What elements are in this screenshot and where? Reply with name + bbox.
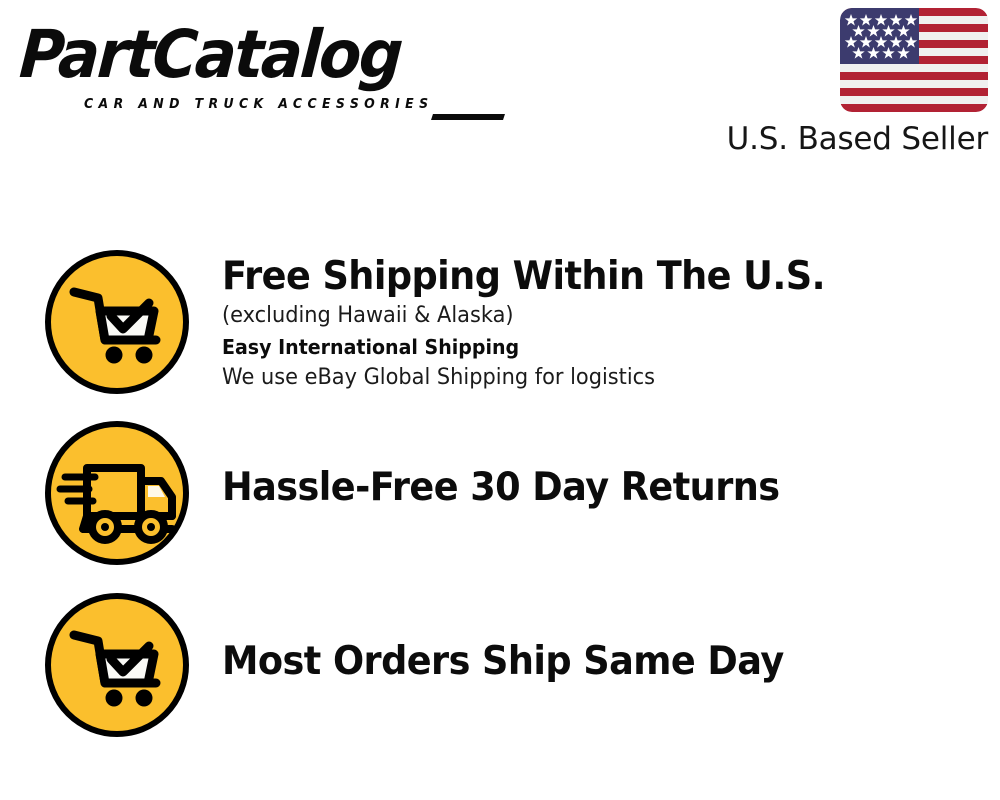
us-based-seller-block: U.S. Based Seller (718, 8, 988, 157)
feature-text-block: Most Orders Ship Same Day (222, 639, 982, 685)
shopping-cart-check-icon (43, 248, 191, 396)
us-based-seller-label: U.S. Based Seller (718, 121, 988, 157)
delivery-truck-icon (43, 419, 191, 567)
us-flag-icon (840, 8, 988, 112)
feature-headline: Most Orders Ship Same Day (222, 639, 936, 685)
shopping-cart-check-icon (43, 591, 191, 739)
brand-tagline: CAR AND TRUCK ACCESSORIES (84, 97, 433, 112)
feature-text-block: Free Shipping Within The U.S. (excluding… (222, 254, 982, 394)
page-header: PartCatalog CAR AND TRUCK ACCESSORIES (0, 0, 1000, 170)
feature-subhead: Easy International Shipping (222, 332, 944, 362)
brand-logo[interactable]: PartCatalog CAR AND TRUCK ACCESSORIES (22, 22, 492, 114)
feature-text-block: Hassle-Free 30 Day Returns (222, 465, 982, 511)
feature-headline: Free Shipping Within The U.S. (222, 254, 936, 300)
brand-underline-swoosh (431, 114, 505, 120)
feature-headline: Hassle-Free 30 Day Returns (222, 465, 936, 511)
feature-subhead-detail: We use eBay Global Shipping for logistic… (222, 362, 944, 394)
brand-wordmark: PartCatalog (18, 22, 459, 88)
feature-subline: (excluding Hawaii & Alaska) (222, 300, 944, 332)
